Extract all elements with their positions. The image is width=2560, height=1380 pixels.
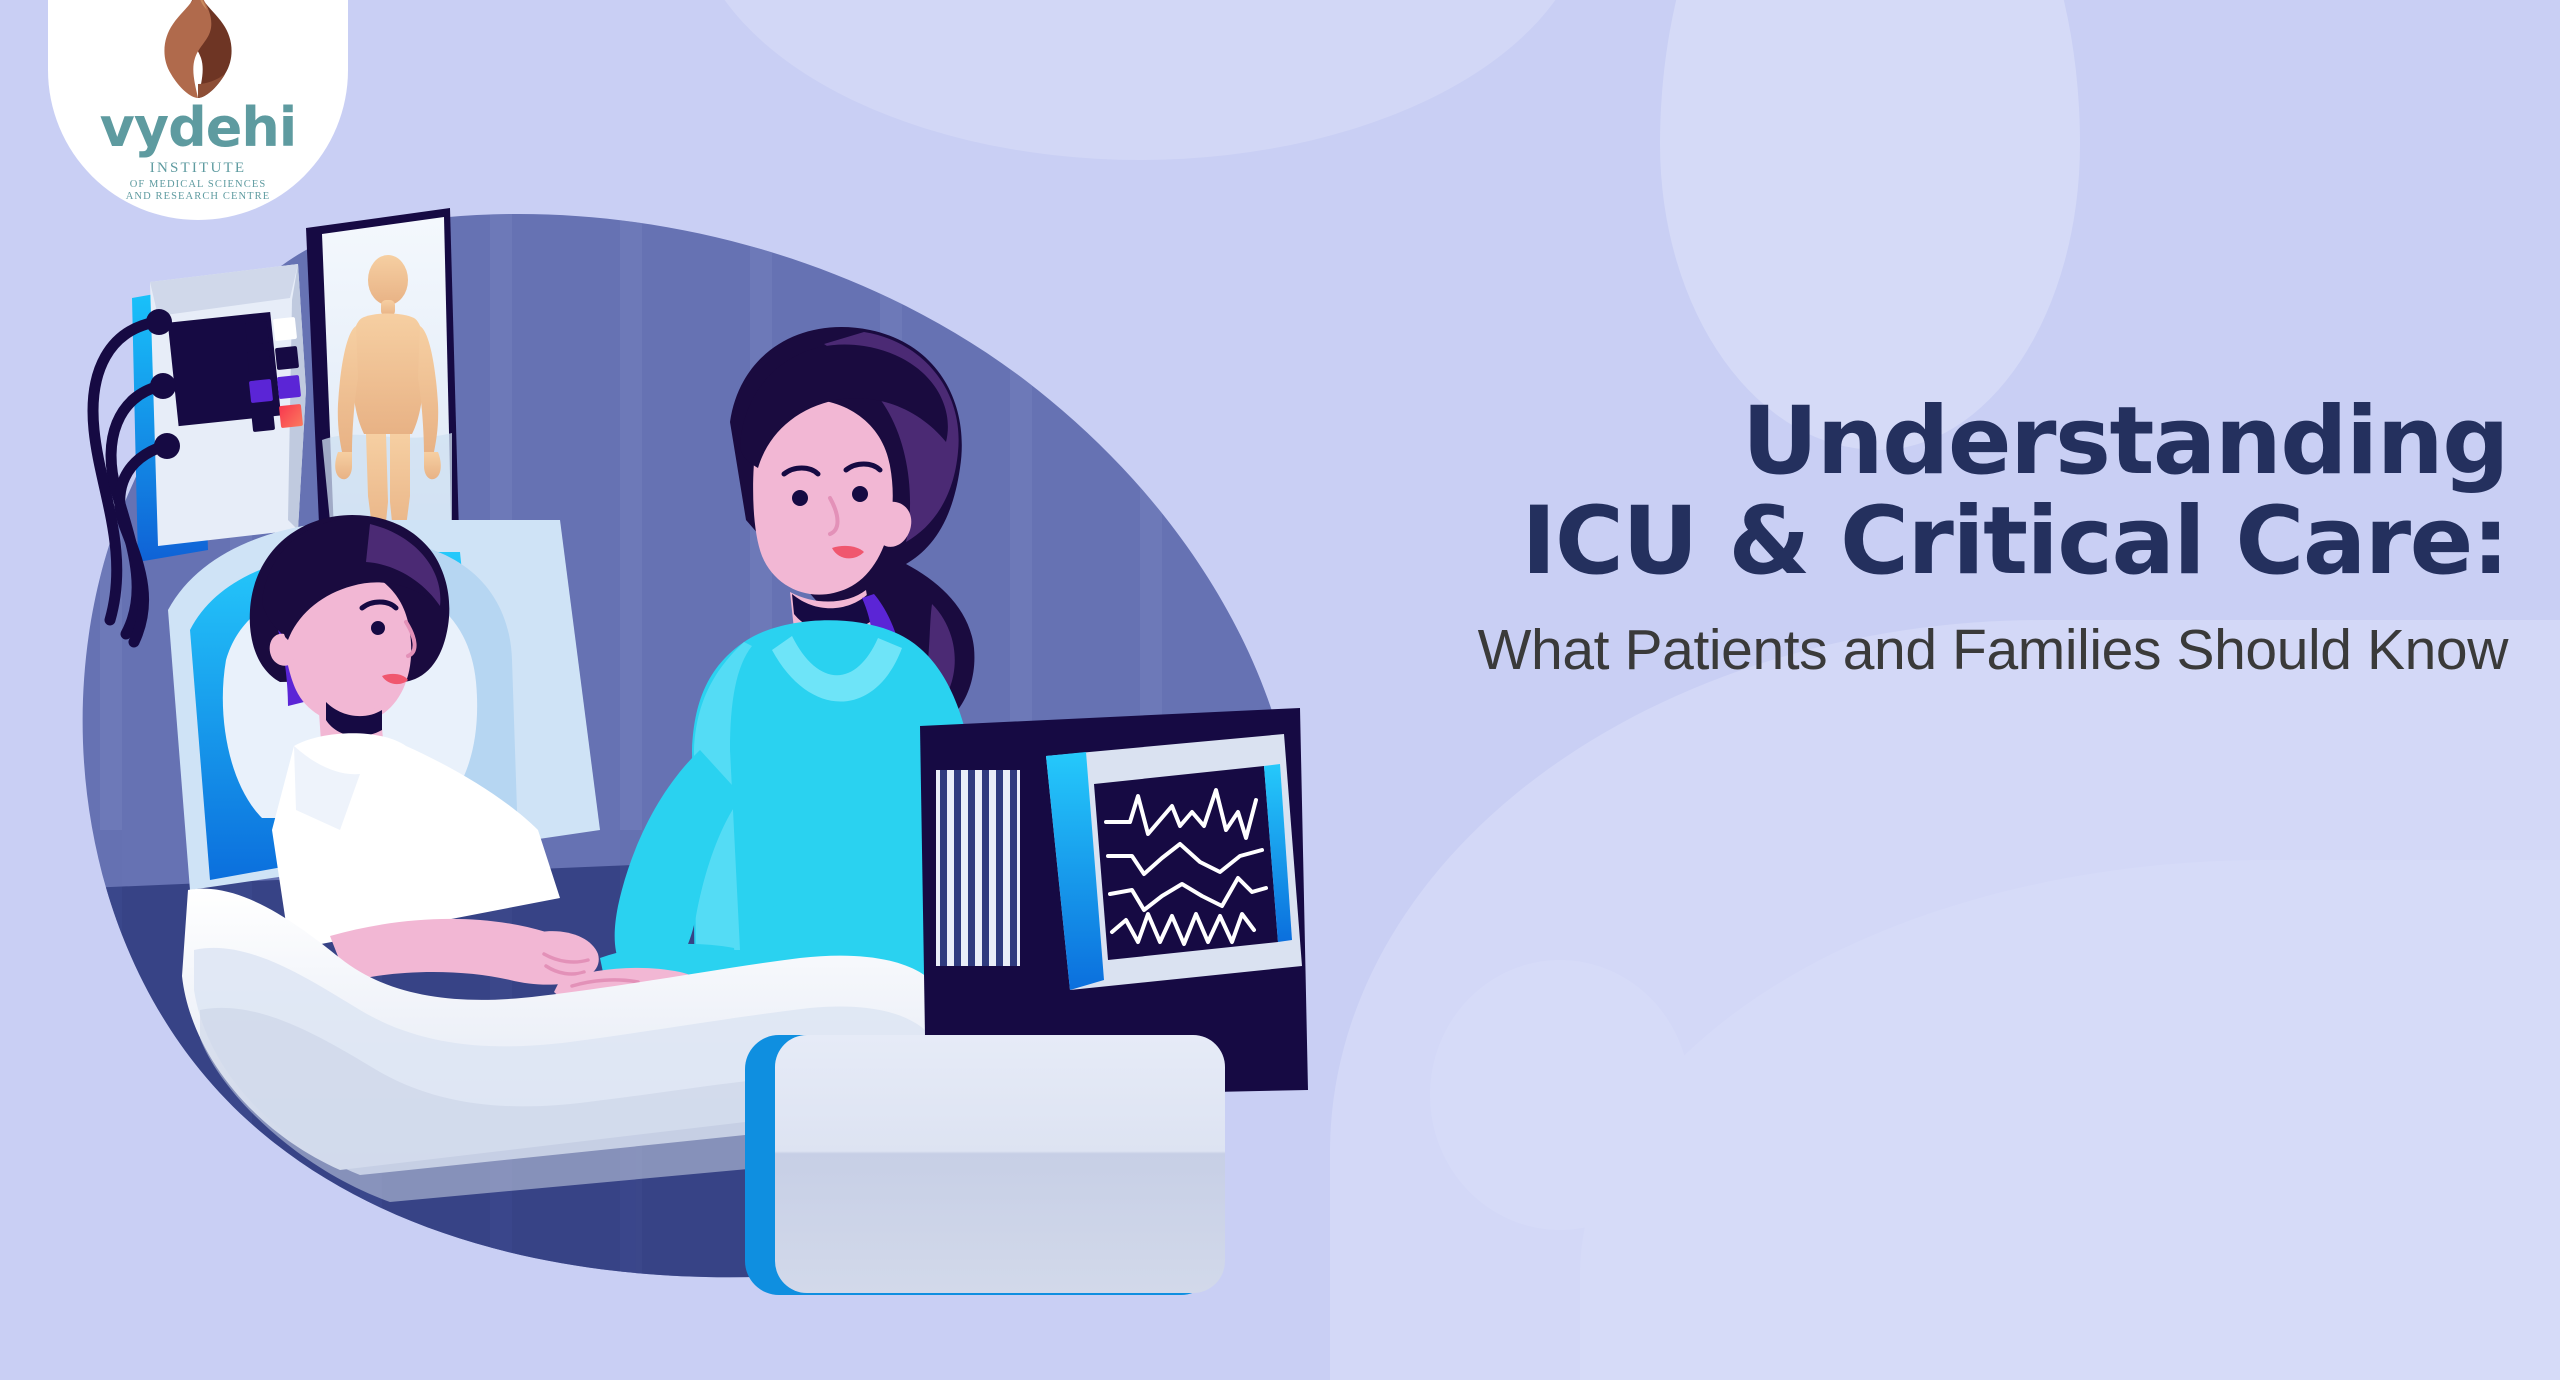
bedside-cabinet[interactable] xyxy=(745,1035,1225,1295)
page-subtitle: What Patients and Families Should Know xyxy=(1388,617,2508,683)
brand-subtitle-line1: INSTITUTE xyxy=(150,160,246,177)
background-blob-top xyxy=(690,0,1590,160)
flame-icon xyxy=(155,0,241,100)
brand-subtitle-line2: OF MEDICAL SCIENCES xyxy=(130,179,267,190)
ventilation-grille xyxy=(936,770,1020,966)
background-blob-oval xyxy=(1660,0,2080,450)
title-line-1: Understanding xyxy=(1742,387,2508,496)
brand-wordmark: vydehi xyxy=(100,104,297,153)
title-line-2: ICU & Critical Care: xyxy=(1388,492,2508,592)
headline-block: Understanding ICU & Critical Care: What … xyxy=(1388,392,2508,683)
page-title: Understanding ICU & Critical Care: xyxy=(1388,392,2508,591)
brand-logo-badge[interactable]: vydehi INSTITUTE OF MEDICAL SCIENCES AND… xyxy=(48,0,348,220)
brand-subtitle-line3: AND RESEARCH CENTRE xyxy=(126,191,271,202)
banner-root: vydehi INSTITUTE OF MEDICAL SCIENCES AND… xyxy=(0,0,2560,1380)
icu-illustration xyxy=(40,190,1460,1370)
